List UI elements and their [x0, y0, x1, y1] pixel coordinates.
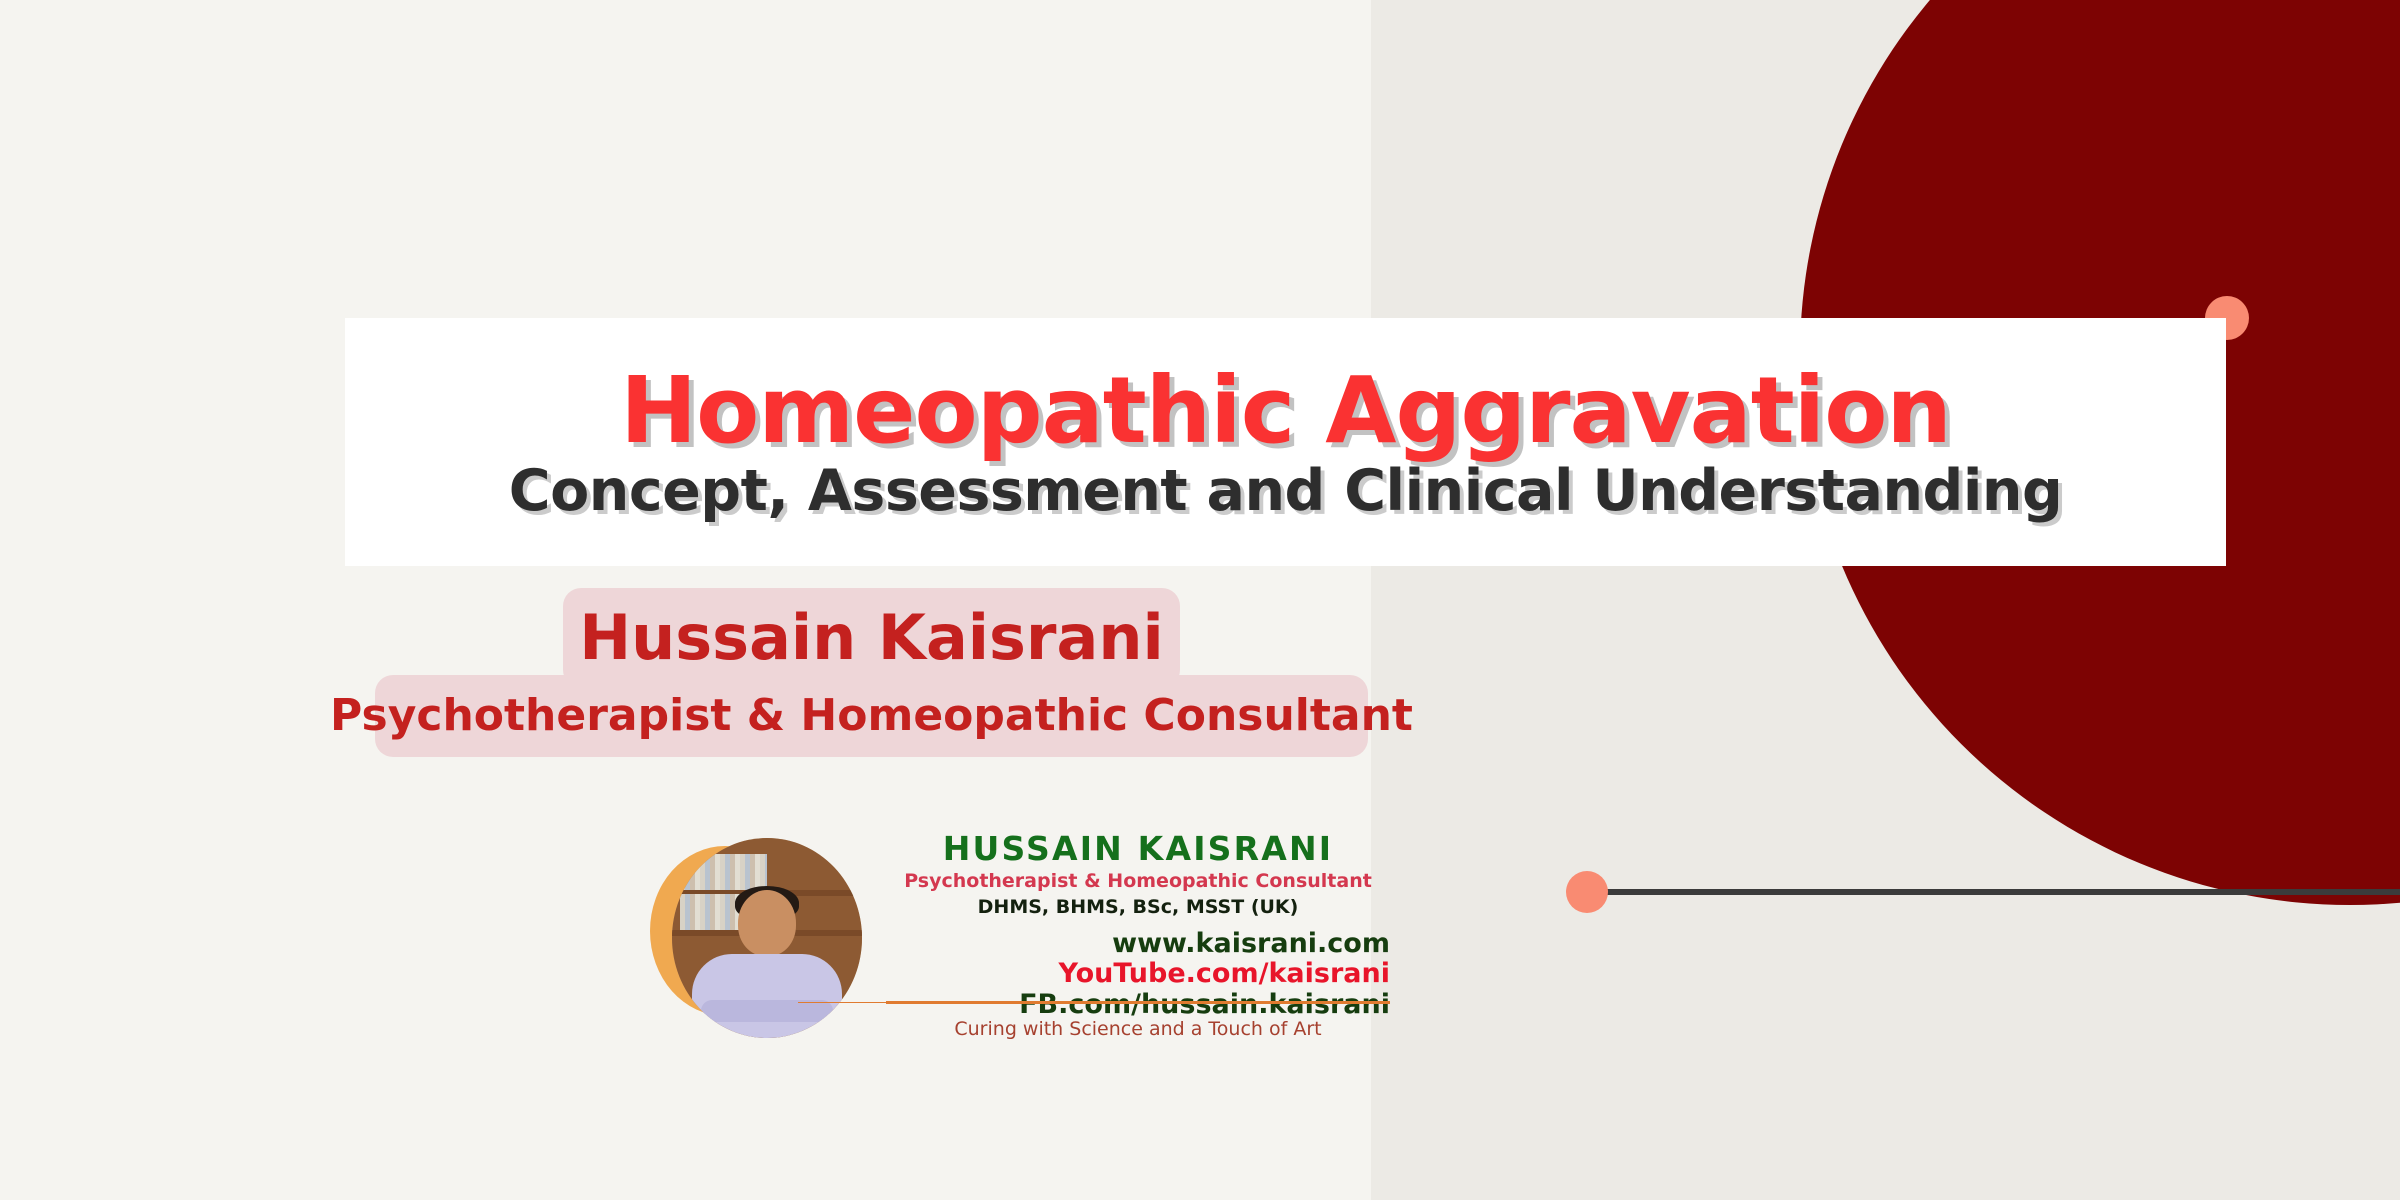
author-role-plate: Psychotherapist & Homeopathic Consultant: [375, 675, 1368, 757]
link-website[interactable]: www.kaisrani.com: [886, 929, 1390, 959]
signature-text: HUSSAIN KAISRANI Psychotherapist & Homeo…: [886, 832, 1390, 1020]
link-youtube[interactable]: YouTube.com/kaisrani: [886, 959, 1390, 989]
portrait-head: [738, 890, 796, 956]
link-facebook[interactable]: FB.com/hussain.kaisrani: [886, 990, 1390, 1020]
portrait-torso: [692, 954, 842, 1038]
signature-divider: [886, 1001, 1390, 1004]
signature-brand-name: HUSSAIN KAISRANI: [886, 832, 1390, 867]
portrait-circle: [672, 838, 862, 1038]
portrait-books: [680, 854, 767, 890]
coral-dot-bottom-icon: [1566, 871, 1608, 913]
slide-subtitle: Concept, Assessment and Clinical Underst…: [509, 463, 2063, 520]
signature-links: www.kaisrani.com YouTube.com/kaisrani FB…: [886, 929, 1390, 1020]
signature-role: Psychotherapist & Homeopathic Consultant: [886, 870, 1390, 894]
author-role: Psychotherapist & Homeopathic Consultant: [330, 694, 1413, 738]
presentation-slide: Homeopathic Aggravation Concept, Assessm…: [0, 0, 2400, 1200]
portrait-arms: [701, 1000, 833, 1022]
portrait-photo: [650, 838, 862, 1038]
title-card: Homeopathic Aggravation Concept, Assessm…: [345, 318, 2226, 566]
signature-tagline: Curing with Science and a Touch of Art: [886, 1018, 1390, 1040]
author-name-plate: Hussain Kaisrani: [563, 588, 1180, 688]
horizontal-accent-rule: [1592, 889, 2400, 895]
signature-block: HUSSAIN KAISRANI Psychotherapist & Homeo…: [650, 832, 1390, 1042]
signature-credentials: DHMS, BHMS, BSc, MSST (UK): [886, 895, 1390, 920]
author-name: Hussain Kaisrani: [579, 607, 1164, 669]
slide-title: Homeopathic Aggravation: [620, 365, 1951, 457]
